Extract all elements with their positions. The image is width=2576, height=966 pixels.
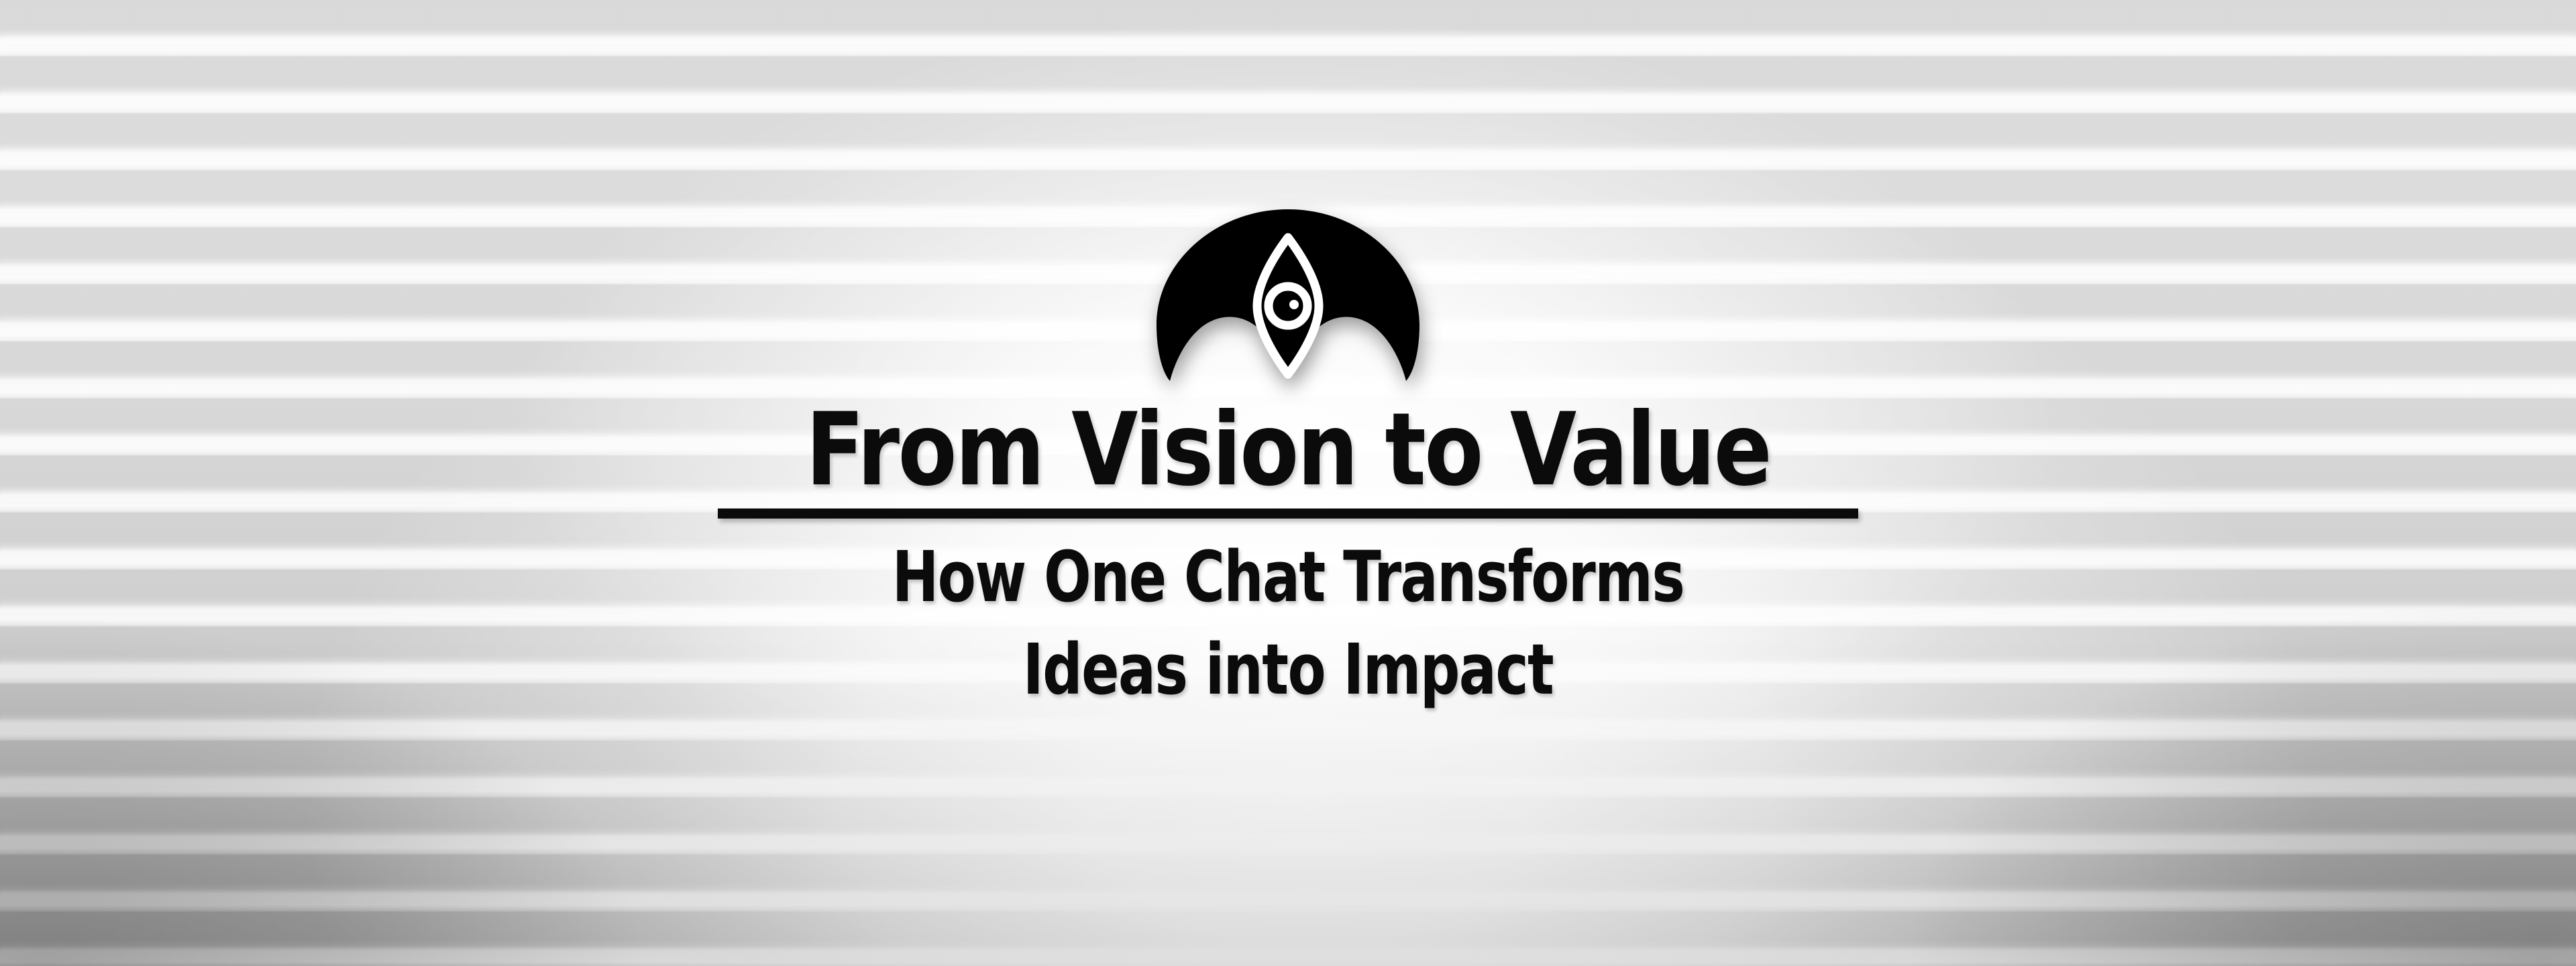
brand-logo (1147, 205, 1429, 390)
subheading-block: How One Chat Transforms Ideas into Impac… (483, 534, 2093, 712)
banner-content: From Vision to Value How One Chat Transf… (0, 0, 2576, 966)
page-title: From Vision to Value (806, 400, 1770, 507)
title-underline (718, 508, 1858, 519)
heading-block: From Vision to Value (550, 400, 2026, 519)
subtitle-line-1: How One Chat Transforms (644, 534, 1932, 620)
bat-wing-eye-icon (1147, 205, 1429, 390)
banner-root: From Vision to Value How One Chat Transf… (0, 0, 2576, 966)
subtitle-line-2: Ideas into Impact (644, 627, 1932, 712)
